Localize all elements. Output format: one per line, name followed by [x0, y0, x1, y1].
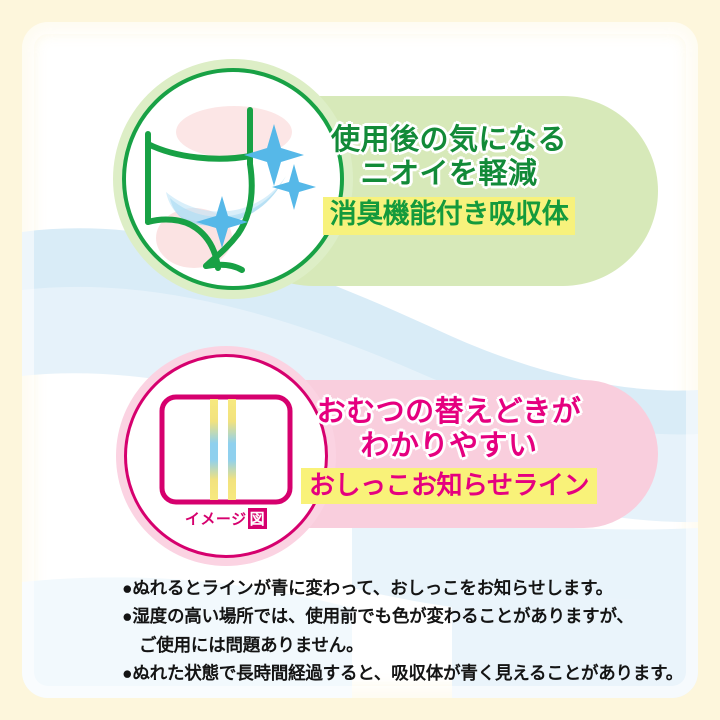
feature-highlight-wetness: おしっこお知らせライン	[301, 468, 597, 504]
panel-root: 使用後の気になる ニオイを軽減 消臭機能付き吸収体	[0, 0, 720, 720]
feature-text-wetness: おむつの替えどきが わかりやすい おしっこお知らせライン	[258, 396, 640, 504]
note-item: ●ぬれるとラインが青に変わって、おしっこをお知らせします。	[122, 574, 662, 602]
feature-line-2: わかりやすい	[258, 430, 640, 464]
feature-line-2: ニオイを軽減	[258, 158, 640, 192]
feature-text-deodorant: 使用後の気になる ニオイを軽減 消臭機能付き吸収体	[258, 124, 640, 235]
note-item: ●ぬれた状態で長時間経過すると、吸収体が青く見えることがあります。	[122, 659, 662, 687]
feature-line-1: 使用後の気になる	[258, 124, 640, 158]
feature-line-1: おむつの替えどきが	[258, 396, 640, 430]
notes-list: ●ぬれるとラインが青に変わって、おしっこをお知らせします。 ●湿度の高い場所では…	[122, 574, 662, 687]
image-caption-boxed: 図	[248, 508, 268, 529]
image-caption-text: イメージ	[185, 511, 247, 528]
feature-highlight-deodorant: 消臭機能付き吸収体	[323, 197, 576, 234]
note-item: ご使用には問題ありません。	[122, 631, 662, 659]
note-item: ●湿度の高い場所では、使用前でも色が変わることがありますが、	[122, 602, 662, 630]
white-panel: 使用後の気になる ニオイを軽減 消臭機能付き吸収体	[22, 22, 698, 698]
image-caption: イメージ図	[127, 508, 325, 529]
